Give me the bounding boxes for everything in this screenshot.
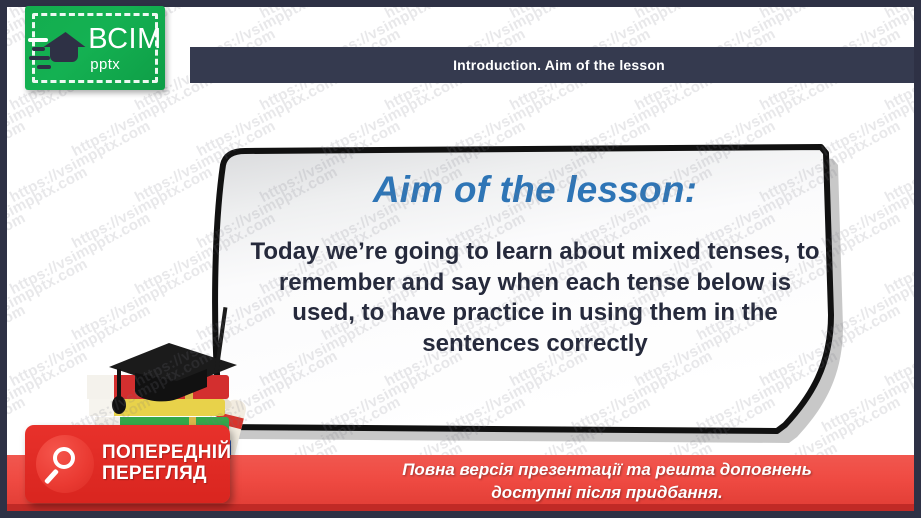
watermark-text: https://vsimpptx.com: [757, 7, 903, 22]
presentation-slide: https://vsimpptx.comhttps://vsimpptx.com…: [0, 0, 921, 518]
logo-title: ВСІМ: [88, 25, 162, 54]
watermark-text: https://vsimpptx.com: [882, 209, 914, 298]
purchase-banner-line2: доступні після придбання.: [307, 482, 907, 505]
watermark-text: https://vsimpptx.com: [7, 209, 28, 298]
watermark-text: https://vsimpptx.com: [7, 163, 90, 252]
watermark-text: https://vsimpptx.com: [882, 7, 914, 22]
banner-underline: [7, 504, 914, 511]
watermark-text: https://vsimpptx.com: [882, 301, 914, 390]
preview-badge[interactable]: ПОПЕРЕДНІЙ ПЕРЕГЛЯД: [25, 425, 230, 503]
watermark-text: https://vsimpptx.com: [257, 7, 403, 22]
watermark-text: https://vsimpptx.com: [507, 7, 653, 22]
watermark-text: https://vsimpptx.com: [632, 7, 778, 22]
purchase-banner-text: Повна версія презентації та решта доповн…: [307, 459, 907, 505]
preview-badge-line1: ПОПЕРЕДНІЙ: [102, 443, 231, 464]
sheet-content: Aim of the lesson: Today we’re going to …: [225, 147, 845, 447]
vsimpptx-logo[interactable]: ВСІМ pptx: [25, 6, 165, 90]
magnifier-icon: [36, 435, 94, 493]
sheet-title: Aim of the lesson:: [225, 169, 845, 211]
content-sheet: Aim of the lesson: Today we’re going to …: [185, 125, 885, 455]
sheet-body-text: Today we’re going to learn about mixed t…: [225, 237, 845, 360]
watermark-text: https://vsimpptx.com: [7, 301, 28, 390]
logo-subtitle: pptx: [90, 57, 120, 72]
watermark-text: https://vsimpptx.com: [382, 7, 528, 22]
graduation-cap-speed-icon: [28, 22, 86, 74]
magnifier-handle-icon: [44, 469, 59, 485]
watermark-text: https://vsimpptx.com: [7, 117, 28, 206]
slide-header-bar: Introduction. Aim of the lesson: [190, 47, 914, 83]
preview-badge-text: ПОПЕРЕДНІЙ ПЕРЕГЛЯД: [102, 443, 231, 484]
watermark-text: https://vsimpptx.com: [882, 117, 914, 206]
page-title: Introduction. Aim of the lesson: [453, 57, 665, 73]
magnifier-lens-icon: [53, 447, 75, 469]
watermark-text: https://vsimpptx.com: [7, 209, 153, 298]
watermark-text: https://vsimpptx.com: [7, 117, 153, 206]
purchase-banner-line1: Повна версія презентації та решта доповн…: [307, 459, 907, 482]
preview-badge-line2: ПЕРЕГЛЯД: [102, 464, 231, 485]
